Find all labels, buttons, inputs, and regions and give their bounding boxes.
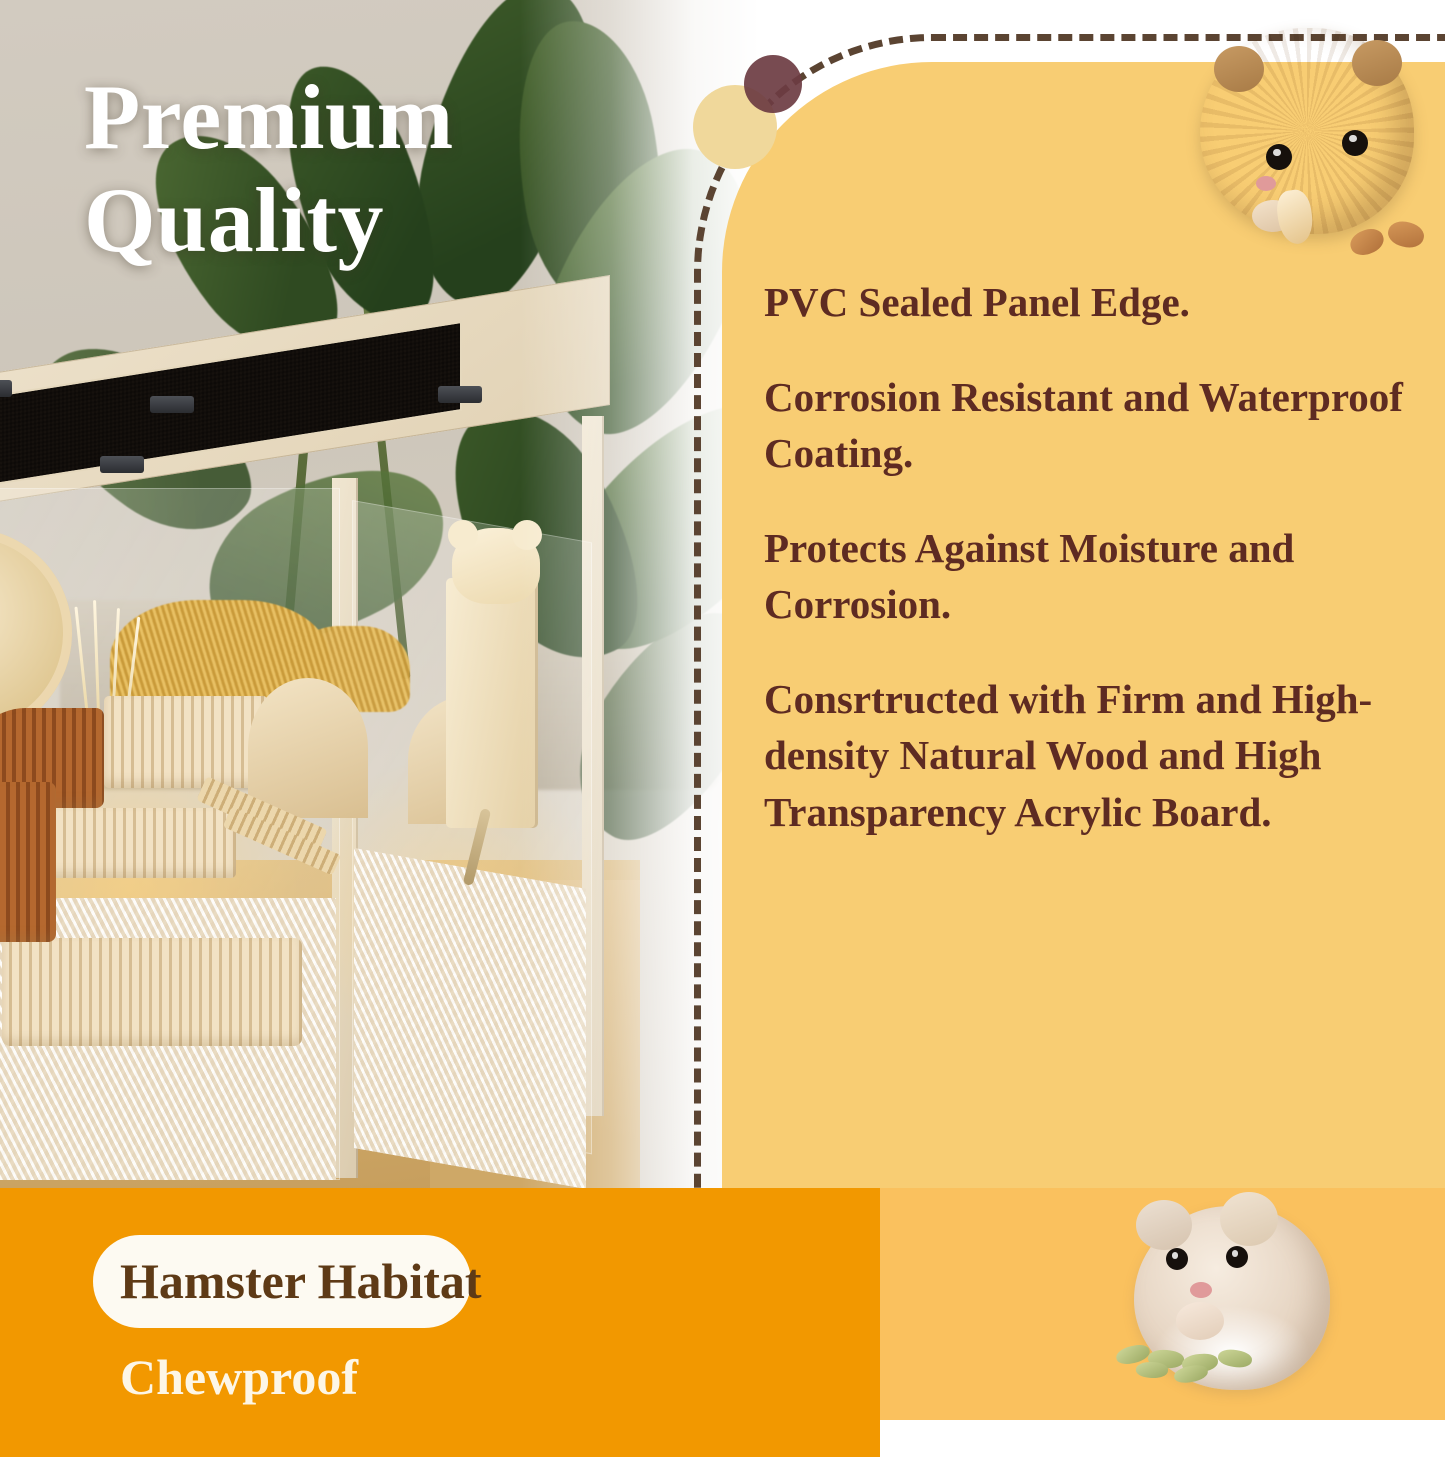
page-title: Premium Quality xyxy=(84,66,684,272)
marketing-banner: Premium Quality PVC Sealed Panel Edge. C… xyxy=(0,0,1445,1457)
title-line-2: Quality xyxy=(84,169,684,272)
feature-item: Protects Against Moisture and Corrosion. xyxy=(764,520,1424,633)
feature-list: PVC Sealed Panel Edge. Corrosion Resista… xyxy=(764,274,1424,841)
secondary-badge-label: Chewproof xyxy=(120,1344,358,1410)
circle-decoration-icon xyxy=(744,55,802,113)
feature-item: Consrtructed with Firm and High-density … xyxy=(764,671,1424,841)
feature-item: Corrosion Resistant and Waterproof Coati… xyxy=(764,369,1424,482)
title-line-1: Premium xyxy=(84,66,684,169)
feature-item: PVC Sealed Panel Edge. xyxy=(764,274,1424,331)
primary-badge-label: Hamster Habitat xyxy=(120,1248,740,1314)
hamster-icon xyxy=(1128,1198,1338,1398)
bottom-right-white-fill xyxy=(880,1420,1445,1457)
hamster-icon xyxy=(1192,18,1422,253)
